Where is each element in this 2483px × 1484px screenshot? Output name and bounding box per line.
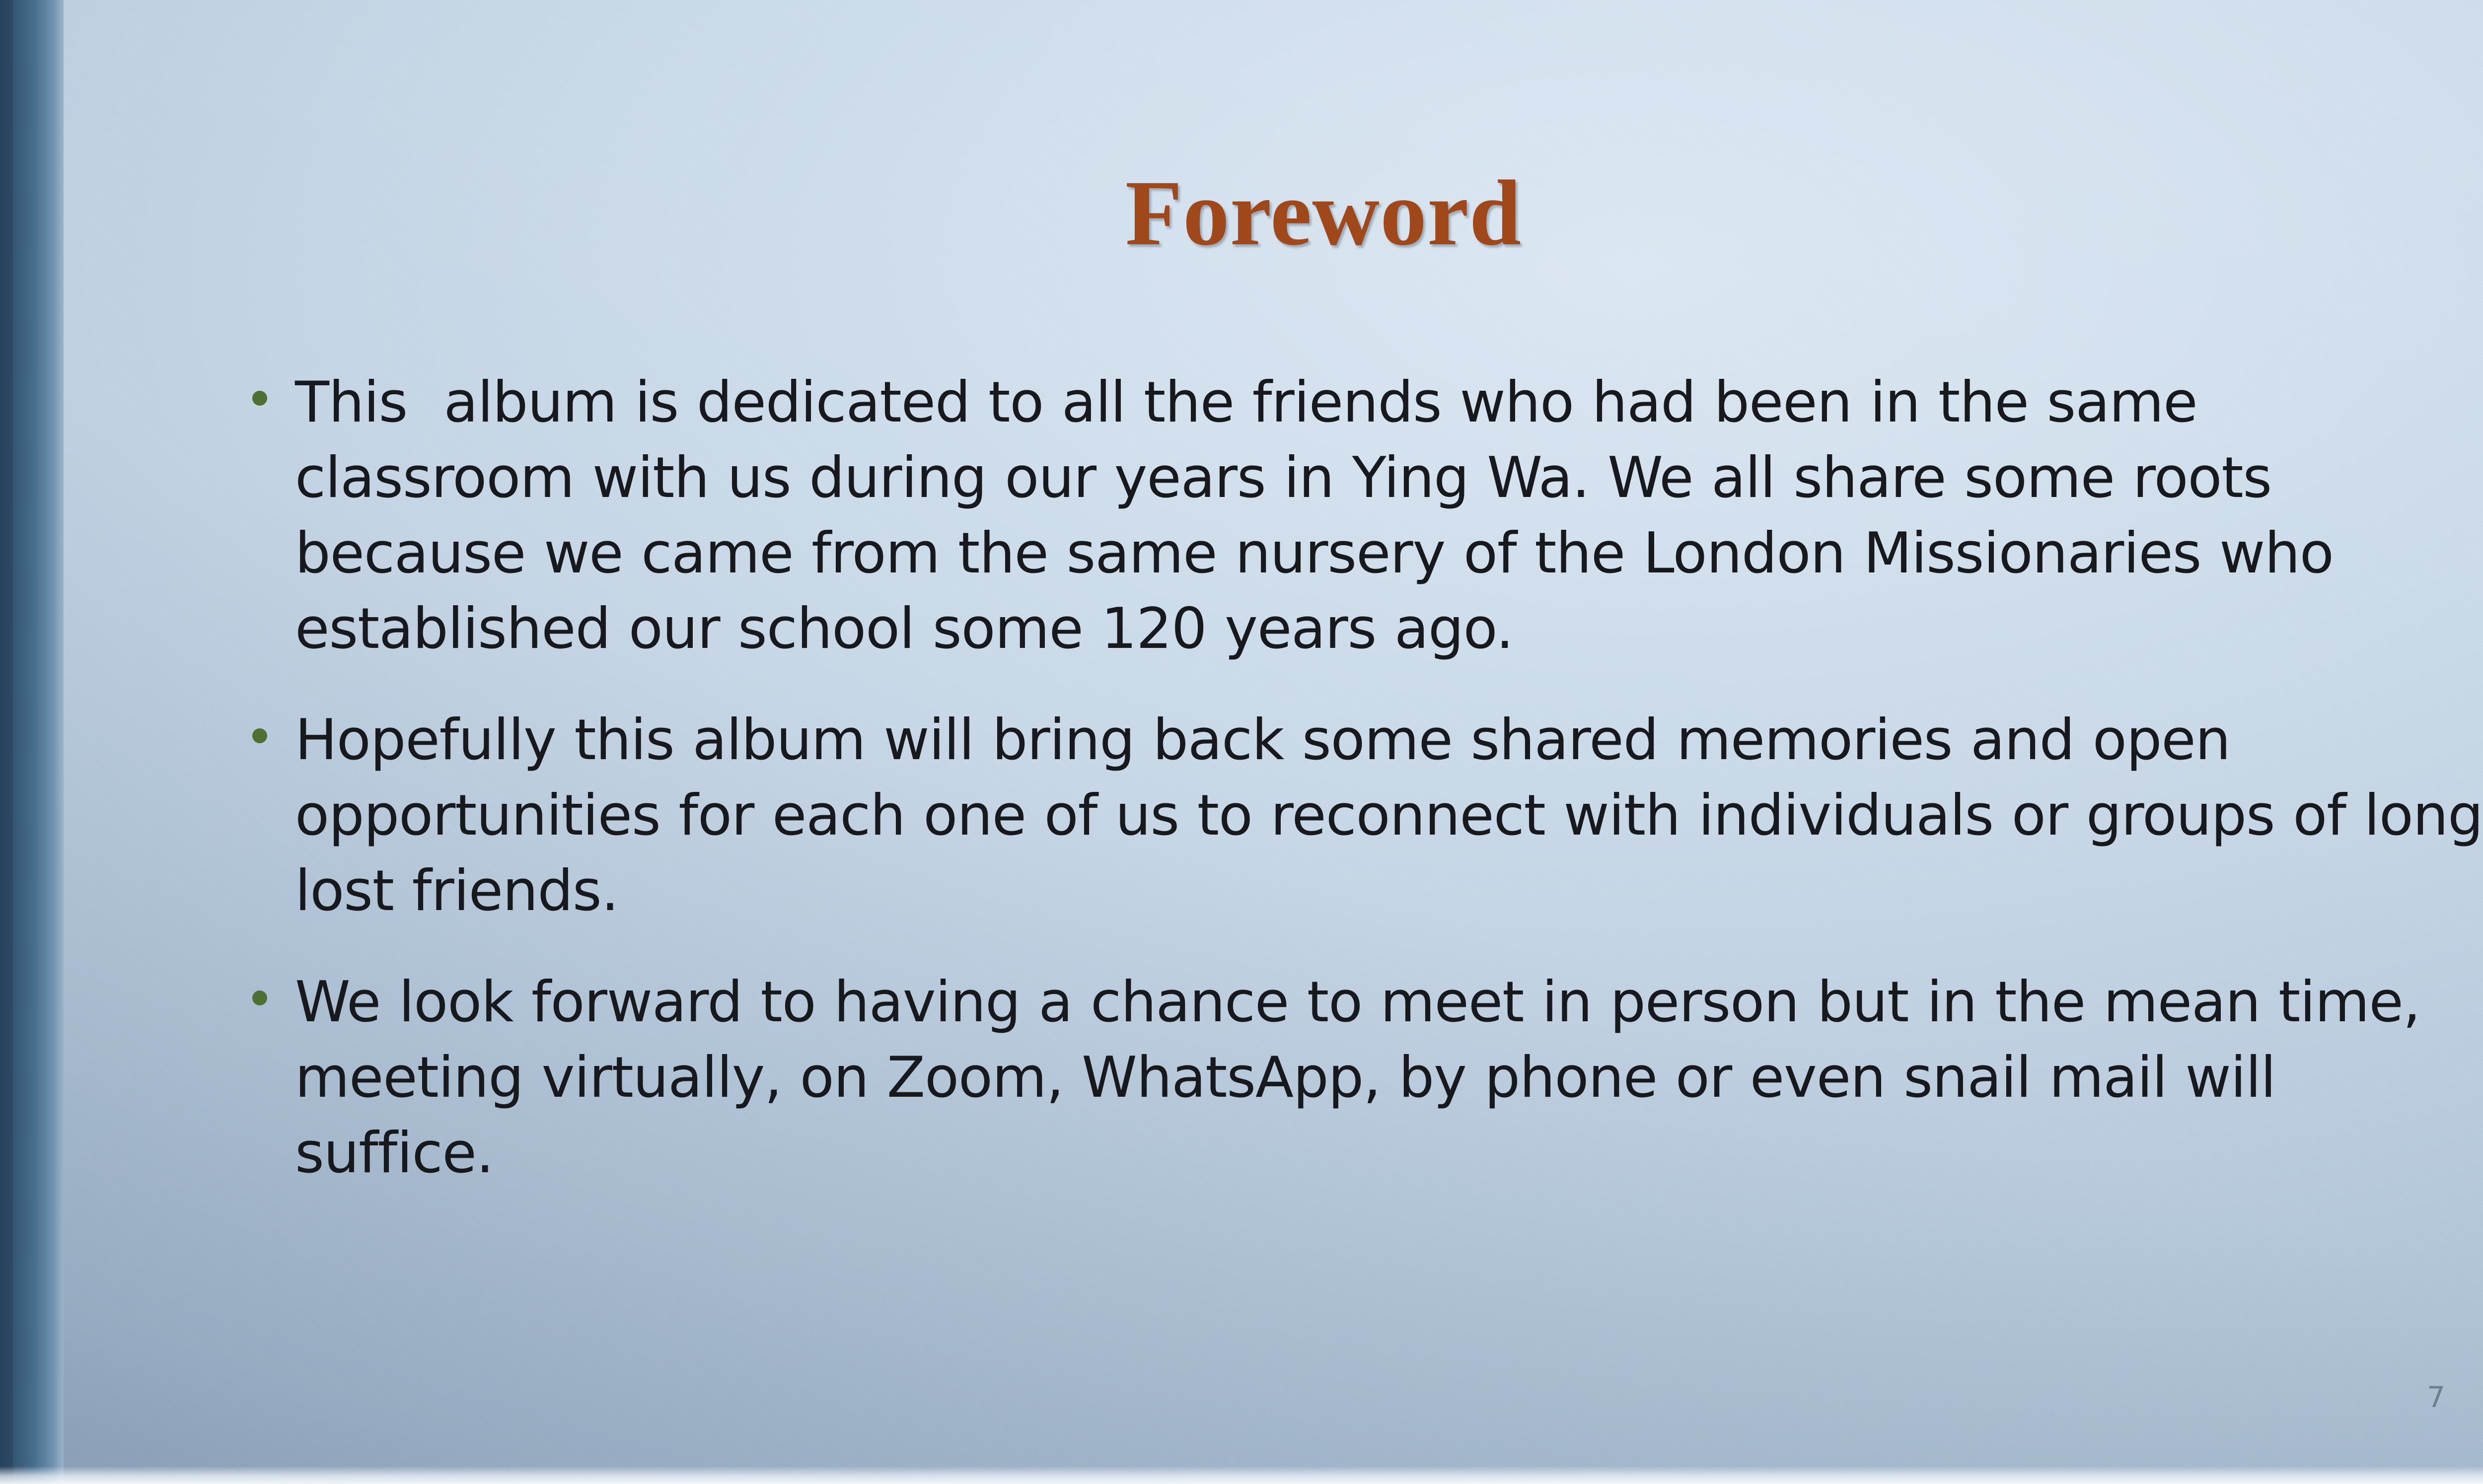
bullet-paragraph: We look forward to having a chance to me… <box>295 965 2483 1191</box>
round-bullet-icon <box>252 365 295 406</box>
bullet-list: This album is dedicated to all the frien… <box>252 365 2483 1191</box>
slide-left-edge-band <box>0 0 64 1484</box>
slide-title: Foreword <box>64 164 2483 262</box>
slide-left-edge-inner-band <box>0 0 13 1484</box>
list-item: This album is dedicated to all the frien… <box>252 365 2483 667</box>
bullet-paragraph: Hopefully this album will bring back som… <box>295 703 2483 929</box>
bullet-paragraph: This album is dedicated to all the frien… <box>295 365 2483 667</box>
list-item: We look forward to having a chance to me… <box>252 965 2483 1191</box>
slide-content-area: Foreword This album is dedicated to all … <box>64 0 2483 1484</box>
round-bullet-icon <box>252 965 295 1005</box>
list-item: Hopefully this album will bring back som… <box>252 703 2483 929</box>
page-number: 7 <box>2427 1383 2445 1412</box>
round-bullet-icon <box>252 703 295 743</box>
presentation-slide: Foreword This album is dedicated to all … <box>0 0 2483 1484</box>
